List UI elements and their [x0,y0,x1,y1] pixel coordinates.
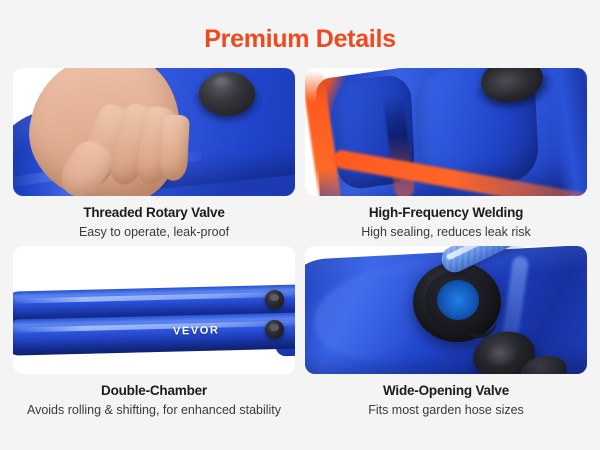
feature-grid: Threaded Rotary Valve Easy to operate, l… [0,52,600,418]
finger-pinky-icon [159,114,189,181]
feature-image-double-chamber: VEVOR [13,246,295,374]
premium-details-page: Premium Details [0,0,600,450]
feature-title: Double-Chamber [13,383,295,400]
feature-caption-double-chamber: Double-Chamber Avoids rolling & shifting… [13,374,295,418]
feature-image-high-frequency-welding [305,68,587,196]
feature-subtitle: Fits most garden hose sizes [305,400,587,418]
feature-title: Wide-Opening Valve [305,383,587,400]
feature-title: High-Frequency Welding [305,205,587,222]
feature-caption-threaded-rotary-valve: Threaded Rotary Valve Easy to operate, l… [13,196,295,240]
feature-subtitle: Easy to operate, leak-proof [13,222,295,240]
feature-caption-high-frequency-welding: High-Frequency Welding High sealing, red… [305,196,587,240]
feature-card-wide-opening-valve[interactable]: Wide-Opening Valve Fits most garden hose… [305,246,587,418]
feature-caption-wide-opening-valve: Wide-Opening Valve Fits most garden hose… [305,374,587,418]
feature-card-double-chamber[interactable]: VEVOR Double-Chamber Avoids rolling & sh… [13,246,295,418]
feature-image-wide-opening-valve [305,246,587,374]
feature-subtitle: Avoids rolling & shifting, for enhanced … [13,400,295,418]
chamber-lower-valve-icon [265,320,284,339]
feature-card-high-frequency-welding[interactable]: High-Frequency Welding High sealing, red… [305,68,587,240]
page-title: Premium Details [0,0,600,52]
chamber-lower-icon [13,312,295,355]
feature-title: Threaded Rotary Valve [13,205,295,222]
brand-logo-text: VEVOR [173,325,220,338]
feature-card-threaded-rotary-valve[interactable]: Threaded Rotary Valve Easy to operate, l… [13,68,295,240]
feature-image-threaded-rotary-valve [13,68,295,196]
chamber-upper-valve-icon [265,290,284,309]
feature-subtitle: High sealing, reduces leak risk [305,222,587,240]
rear-valve-cap-icon [199,72,255,116]
